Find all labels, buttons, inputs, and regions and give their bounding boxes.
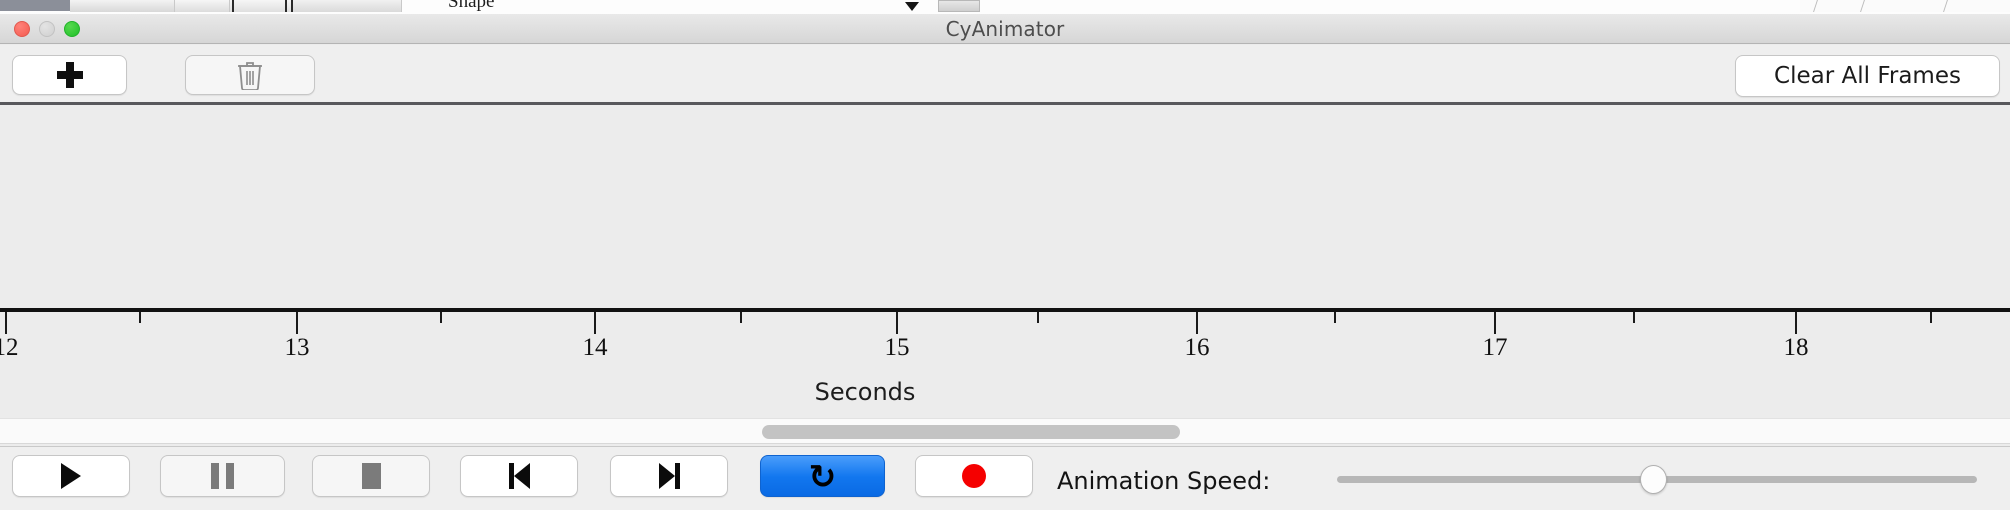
trash-icon: [237, 60, 263, 90]
ruler-tick: [1930, 312, 1932, 323]
add-frame-button[interactable]: [12, 55, 127, 95]
horizontal-scrollbar[interactable]: [0, 418, 2010, 444]
background-toolbar-cell-1: [70, 0, 175, 12]
ruler-tick: [1334, 312, 1336, 323]
loop-icon: ↻: [809, 460, 837, 493]
ruler-tick-label: 13: [285, 334, 310, 362]
ruler-tick-label: 17: [1483, 334, 1508, 362]
background-toolbar-cell-3: [230, 0, 292, 12]
ruler-tick: [1037, 312, 1039, 323]
ruler-tick: [440, 312, 442, 323]
pause-icon: [211, 463, 234, 489]
background-window-label: Shape: [448, 0, 494, 13]
animation-speed-slider-thumb[interactable]: [1640, 465, 1667, 494]
record-button[interactable]: [915, 455, 1033, 497]
ruler-tick-label: 14: [583, 334, 608, 362]
loop-button[interactable]: ↻: [760, 455, 885, 497]
skip-start-icon: [509, 463, 530, 489]
ruler-tick: [1633, 312, 1635, 323]
stop-icon: [362, 463, 381, 489]
record-icon: [962, 464, 986, 488]
ruler-tick: [1196, 312, 1198, 334]
clear-all-frames-button[interactable]: Clear All Frames: [1735, 55, 2000, 97]
frames-track[interactable]: MCM1MCM1MCM1: [0, 108, 2010, 310]
cyanimator-window: Shape CyAnimator Clear All Frames: [0, 0, 2010, 510]
background-tick-3: [291, 0, 293, 12]
background-toolbar-cell-4: [292, 0, 402, 12]
axis-title-text: Seconds: [815, 378, 916, 406]
background-widget-box: [938, 0, 980, 12]
background-window-strip: Shape: [0, 0, 2010, 14]
skip-end-button[interactable]: [610, 455, 728, 497]
ruler-tick: [296, 312, 298, 334]
minimize-icon[interactable]: [39, 21, 55, 37]
scrollbar-thumb[interactable]: [762, 425, 1180, 439]
axis-title: Seconds: [0, 378, 2010, 406]
zoom-icon[interactable]: [64, 21, 80, 37]
ruler-tick: [1494, 312, 1496, 334]
background-cursor-arrow: [905, 2, 919, 11]
play-button[interactable]: [12, 455, 130, 497]
play-icon: [61, 463, 81, 489]
animation-speed-label: Animation Speed:: [1057, 467, 1270, 495]
close-icon[interactable]: [14, 21, 30, 37]
window-traffic-lights: [14, 21, 80, 37]
plus-icon: [57, 62, 83, 88]
background-tick-1: [232, 0, 234, 12]
ruler-baseline: [0, 308, 2010, 312]
frame-toolbar: Clear All Frames: [0, 45, 2010, 105]
background-titlebar-fragment: [0, 0, 70, 11]
delete-frame-button[interactable]: [185, 55, 315, 95]
ruler-tick: [896, 312, 898, 334]
skip-start-button[interactable]: [460, 455, 578, 497]
background-right-panel: [1800, 0, 2010, 12]
ruler-tick: [594, 312, 596, 334]
ruler-tick: [139, 312, 141, 323]
stop-button[interactable]: [312, 455, 430, 497]
ruler-tick-label: 12: [0, 334, 19, 362]
ruler-tick: [1795, 312, 1797, 334]
page-title: CyAnimator: [0, 17, 2010, 41]
skip-end-icon: [659, 463, 680, 489]
background-toolbar-cell-2: [175, 0, 230, 12]
ruler-tick-label: 15: [885, 334, 910, 362]
timeline-ruler[interactable]: 12131415161718: [0, 308, 2010, 378]
background-tick-2: [285, 0, 287, 12]
title-bar: CyAnimator: [0, 14, 2010, 44]
pause-button[interactable]: [160, 455, 285, 497]
ruler-tick: [5, 312, 7, 334]
ruler-tick-label: 18: [1784, 334, 1809, 362]
ruler-tick: [740, 312, 742, 323]
ruler-tick-label: 16: [1185, 334, 1210, 362]
